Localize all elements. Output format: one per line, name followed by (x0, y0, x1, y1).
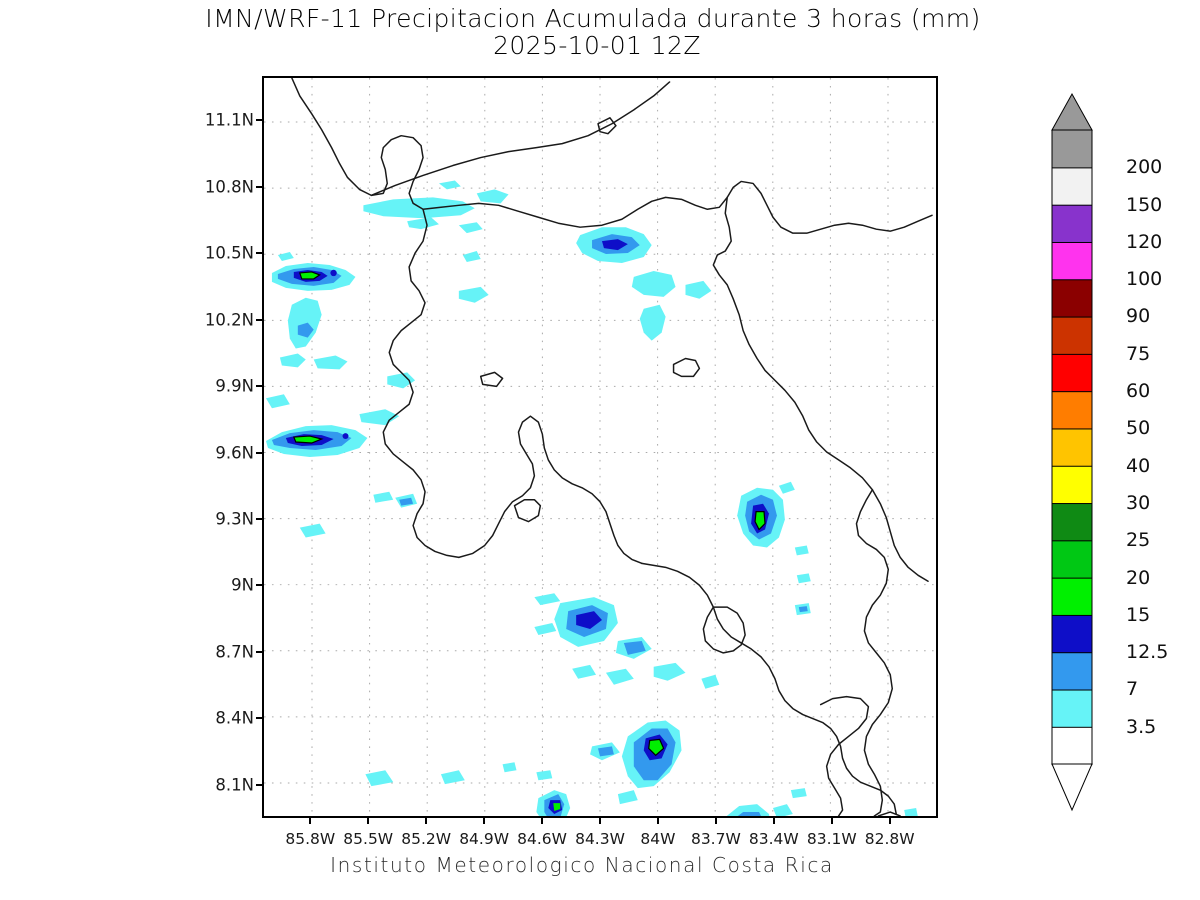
colorbar-under-arrow (1052, 764, 1092, 810)
colorbar-swatch-6 (1052, 503, 1092, 541)
x-tick-83.1W: 83.1W (807, 830, 857, 848)
colorbar-swatch-12 (1052, 279, 1092, 317)
colorbar-svg (1040, 92, 1200, 822)
colorbar-swatch-14 (1052, 205, 1092, 243)
x-tick-84W: 84W (640, 830, 675, 848)
y-tick-11.1N: 11.1N (205, 111, 254, 130)
colorbar-label-20: 20 (1126, 567, 1150, 589)
y-tick-9.3N: 9.3N (215, 509, 254, 528)
y-tick-8.4N: 8.4N (215, 709, 254, 728)
y-tick-10.2N: 10.2N (205, 310, 254, 329)
colorbar-label-30: 30 (1126, 492, 1150, 514)
precip-cell-coto-brus (699, 804, 792, 816)
colorbar-swatch-7 (1052, 466, 1092, 504)
colorbar-label-90: 90 (1126, 305, 1150, 327)
map-plot-area[interactable] (262, 76, 938, 818)
precip-cell-santa-cruz (288, 298, 322, 349)
precipitation-map-figure: IMN/WRF-11 Precipitacion Acumulada duran… (0, 0, 1200, 900)
title-line-datetime: 2025-10-01 12Z (0, 33, 1200, 60)
x-tick-85.8W: 85.8W (285, 830, 335, 848)
x-axis-tick-labels: 85.8W85.5W85.2W84.9W84.6W84.3W84W83.7W83… (0, 824, 1200, 850)
colorbar-swatch-13 (1052, 242, 1092, 280)
x-tick-85.2W: 85.2W (401, 830, 451, 848)
x-tick-84.6W: 84.6W (517, 830, 567, 848)
colorbar-swatch-1 (1052, 689, 1092, 727)
title-line-main: IMN/WRF-11 Precipitacion Acumulada duran… (0, 6, 1200, 33)
colorbar-swatch-5 (1052, 540, 1092, 578)
footer-credit: Instituto Meteorologico Nacional Costa R… (0, 853, 1182, 877)
precip-scatter-san-carlos (407, 217, 711, 340)
map-canvas (264, 78, 936, 816)
precip-cell-osa (503, 762, 571, 816)
colorbar-label-12.5: 12.5 (1126, 641, 1168, 663)
y-tick-8.1N: 8.1N (215, 775, 254, 794)
colorbar-label-25: 25 (1126, 529, 1150, 551)
y-tick-8.7N: 8.7N (215, 642, 254, 661)
colorbar-label-200: 200 (1126, 156, 1162, 178)
grid-lines (264, 78, 936, 816)
x-tick-84.3W: 84.3W (575, 830, 625, 848)
y-tick-10.8N: 10.8N (205, 177, 254, 196)
colorbar-label-60: 60 (1126, 380, 1150, 402)
precipitation-contours (266, 180, 918, 816)
y-tick-10.5N: 10.5N (205, 244, 254, 263)
colorbar-over-arrow (1052, 94, 1092, 130)
coastline-and-borders (292, 78, 932, 816)
y-axis-tick-labels: 11.1N10.8N10.5N10.2N9.9N9.6N9.3N9N8.7N8.… (190, 0, 254, 900)
colorbar-swatch-3 (1052, 615, 1092, 653)
colorbar-label-7: 7 (1126, 678, 1138, 700)
colorbar-label-75: 75 (1126, 343, 1150, 365)
colorbar-swatches (1052, 130, 1092, 765)
colorbar-label-3.5: 3.5 (1126, 716, 1156, 738)
x-tick-84.9W: 84.9W (459, 830, 509, 848)
x-tick-83.4W: 83.4W (749, 830, 799, 848)
colorbar-swatch-16 (1052, 130, 1092, 168)
colorbar-label-50: 50 (1126, 417, 1150, 439)
colorbar-label-120: 120 (1126, 231, 1162, 253)
figure-title: IMN/WRF-11 Precipitacion Acumulada duran… (0, 6, 1200, 59)
precip-cell-turrialba (534, 593, 719, 688)
colorbar-swatch-10 (1052, 354, 1092, 392)
precip-cell-guatuso (576, 227, 652, 263)
precip-scatter-coastal-nw (280, 354, 348, 370)
colorbar-swatch-0 (1052, 727, 1092, 765)
colorbar-label-100: 100 (1126, 268, 1162, 290)
x-tick-83.7W: 83.7W (691, 830, 741, 848)
colorbar-swatch-9 (1052, 391, 1092, 429)
precip-cell-central-valley (737, 482, 811, 615)
precip-cell-nicoya-nw (272, 252, 356, 291)
precip-cell-talamanca (590, 721, 681, 805)
colorbar-swatch-15 (1052, 167, 1092, 205)
colorbar-label-15: 15 (1126, 604, 1150, 626)
x-tick-85.5W: 85.5W (343, 830, 393, 848)
colorbar-swatch-11 (1052, 316, 1092, 354)
y-tick-9.9N: 9.9N (215, 377, 254, 396)
colorbar[interactable]: 3.5712.5152025304050607590100120150200 (1040, 92, 1200, 822)
colorbar-swatch-4 (1052, 578, 1092, 616)
y-tick-9.6N: 9.6N (215, 443, 254, 462)
x-tick-82.8W: 82.8W (865, 830, 915, 848)
colorbar-label-150: 150 (1126, 194, 1162, 216)
colorbar-label-40: 40 (1126, 455, 1150, 477)
colorbar-swatch-2 (1052, 652, 1092, 690)
colorbar-swatch-8 (1052, 428, 1092, 466)
y-tick-9N: 9N (231, 576, 254, 595)
